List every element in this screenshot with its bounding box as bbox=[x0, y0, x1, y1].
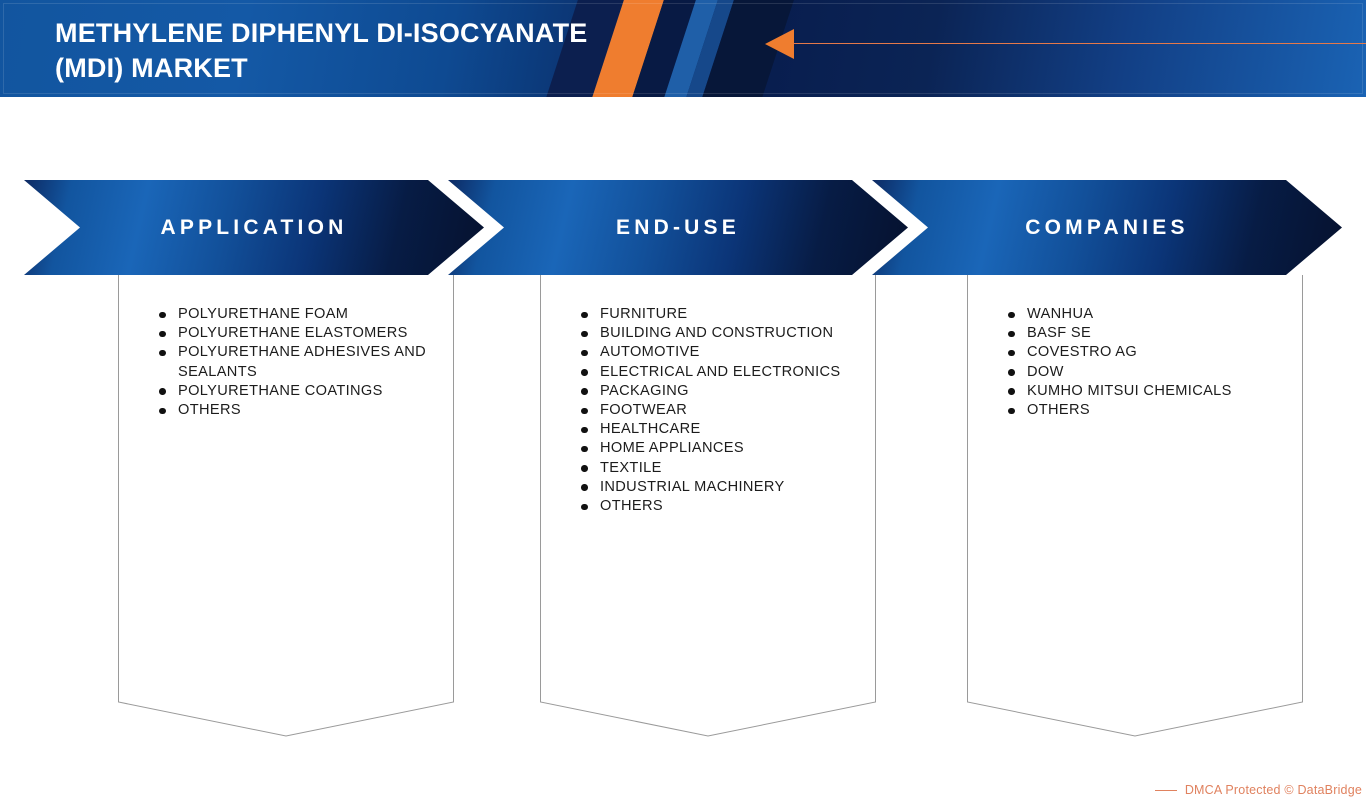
list-item: POLYURETHANE COATINGS bbox=[159, 382, 434, 401]
list-item: AUTOMOTIVE bbox=[581, 343, 856, 362]
list-application: POLYURETHANE FOAM POLYURETHANE ELASTOMER… bbox=[159, 305, 434, 420]
segmentation-columns: APPLICATION POLYURETHANE FOAM POLYURETHA… bbox=[0, 180, 1366, 740]
list-item: INDUSTRIAL MACHINERY bbox=[581, 478, 856, 497]
page-title: METHYLENE DIPHENYL DI-ISOCYANATE (MDI) M… bbox=[55, 16, 615, 86]
list-item: PACKAGING bbox=[581, 382, 856, 401]
list-item: FOOTWEAR bbox=[581, 401, 856, 420]
list-item: TEXTILE bbox=[581, 459, 856, 478]
column-title-companies: COMPANIES bbox=[928, 180, 1286, 275]
list-item: OTHERS bbox=[159, 401, 434, 420]
list-item: WANHUA bbox=[1008, 305, 1283, 324]
list-item: DOW bbox=[1008, 363, 1283, 382]
list-item: KUMHO MITSUI CHEMICALS bbox=[1008, 382, 1283, 401]
list-item: POLYURETHANE ADHESIVES AND SEALANTS bbox=[159, 343, 434, 381]
column-end-use: END-USE FURNITURE BUILDING AND CONSTRUCT… bbox=[448, 180, 908, 275]
list-item: FURNITURE bbox=[581, 305, 856, 324]
footer-text: DMCA Protected © DataBridge bbox=[1185, 783, 1362, 797]
column-title-application: APPLICATION bbox=[80, 180, 428, 275]
list-end-use: FURNITURE BUILDING AND CONSTRUCTION AUTO… bbox=[581, 305, 856, 516]
header-banner: METHYLENE DIPHENYL DI-ISOCYANATE (MDI) M… bbox=[0, 0, 1366, 97]
list-item: BUILDING AND CONSTRUCTION bbox=[581, 324, 856, 343]
list-item: POLYURETHANE FOAM bbox=[159, 305, 434, 324]
column-companies: COMPANIES WANHUA BASF SE COVESTRO AG DOW… bbox=[872, 180, 1342, 275]
list-item: POLYURETHANE ELASTOMERS bbox=[159, 324, 434, 343]
footer-copyright: DMCA Protected © DataBridge bbox=[1155, 780, 1366, 800]
list-item: OTHERS bbox=[1008, 401, 1283, 420]
left-arrow-icon bbox=[765, 29, 794, 59]
list-item: COVESTRO AG bbox=[1008, 343, 1283, 362]
arrow-rule-line bbox=[793, 43, 1366, 44]
list-companies: WANHUA BASF SE COVESTRO AG DOW KUMHO MIT… bbox=[1008, 305, 1283, 420]
list-item: OTHERS bbox=[581, 497, 856, 516]
list-item: HOME APPLIANCES bbox=[581, 439, 856, 458]
footer-dash-icon bbox=[1155, 790, 1177, 791]
column-title-end-use: END-USE bbox=[504, 180, 852, 275]
list-item: BASF SE bbox=[1008, 324, 1283, 343]
list-item: ELECTRICAL AND ELECTRONICS bbox=[581, 363, 856, 382]
list-item: HEALTHCARE bbox=[581, 420, 856, 439]
column-application: APPLICATION POLYURETHANE FOAM POLYURETHA… bbox=[24, 180, 484, 275]
